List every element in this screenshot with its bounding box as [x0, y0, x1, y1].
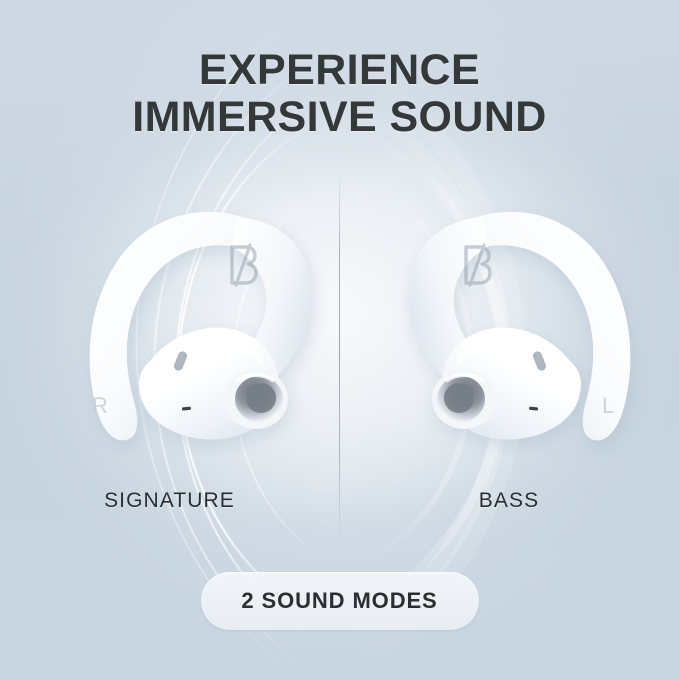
headline: EXPERIENCE IMMERSIVE SOUND [0, 47, 679, 141]
sound-modes-badge-label: 2 SOUND MODES [241, 588, 437, 613]
mode-label-signature: SIGNATURE [0, 489, 339, 513]
ear-tip-right [432, 369, 496, 429]
ear-tip-left [224, 369, 288, 429]
mode-label-bass: BASS [339, 489, 679, 513]
earbud-right-bass: L [390, 185, 660, 455]
vertical-split-line [339, 168, 340, 540]
product-banner: R [0, 0, 679, 679]
sound-modes-badge: 2 SOUND MODES [201, 572, 479, 630]
earbud-side-marking-left: R [92, 393, 108, 418]
earbud-left-signature: R [60, 185, 330, 455]
earbud-side-marking-right: L [602, 393, 614, 418]
